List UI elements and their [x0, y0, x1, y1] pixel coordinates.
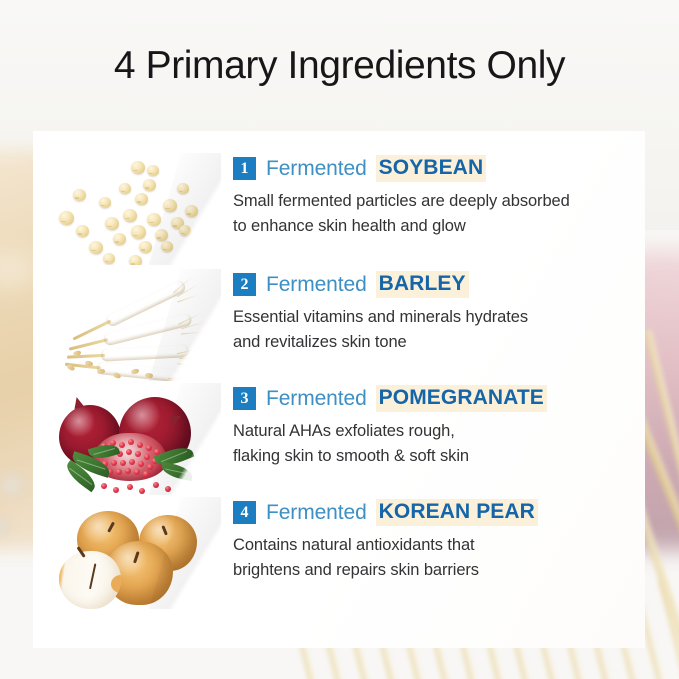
ingredient-name: BARLEY: [376, 271, 469, 298]
description-line: Natural AHAs exfoliates rough,: [233, 419, 645, 444]
barley-headline: 2 Fermented BARLEY: [233, 271, 645, 298]
ingredient-row-soybean: 1 Fermented SOYBEAN Small fermented part…: [33, 153, 645, 267]
step-number-badge: 2: [233, 273, 256, 296]
step-number-badge: 1: [233, 157, 256, 180]
ingredients-infographic: 4 Primary Ingredients Only: [0, 0, 679, 679]
korean-pear-photo: [43, 497, 221, 609]
step-number-badge: 3: [233, 387, 256, 410]
description-line: brightens and repairs skin barriers: [233, 558, 645, 583]
description-line: Contains natural antioxidants that: [233, 533, 645, 558]
pomegranate-text-block: 3 Fermented POMEGRANATE Natural AHAs exf…: [221, 383, 645, 469]
description-line: and revitalizes skin tone: [233, 330, 645, 355]
step-number-badge: 4: [233, 501, 256, 524]
page-title: 4 Primary Ingredients Only: [0, 44, 679, 88]
description-line: Small fermented particles are deeply abs…: [233, 189, 645, 214]
ingredient-name: POMEGRANATE: [376, 385, 547, 412]
fermented-label: Fermented: [266, 157, 367, 181]
barley-text-block: 2 Fermented BARLEY Essential vitamins an…: [221, 269, 645, 355]
soybeans-photo: [43, 153, 221, 265]
pomegranate-description: Natural AHAs exfoliates rough, flaking s…: [233, 419, 645, 469]
fermented-label: Fermented: [266, 387, 367, 411]
ingredient-row-korean-pear: 4 Fermented KOREAN PEAR Contains natural…: [33, 497, 645, 611]
ingredients-card: 1 Fermented SOYBEAN Small fermented part…: [33, 131, 645, 648]
fermented-label: Fermented: [266, 273, 367, 297]
ingredient-row-barley: 2 Fermented BARLEY Essential vitamins an…: [33, 269, 645, 383]
ingredient-name: KOREAN PEAR: [376, 499, 538, 526]
fermented-label: Fermented: [266, 501, 367, 525]
soybean-description: Small fermented particles are deeply abs…: [233, 189, 645, 239]
soybean-text-block: 1 Fermented SOYBEAN Small fermented part…: [221, 153, 645, 239]
description-line: flaking skin to smooth & soft skin: [233, 444, 645, 469]
barley-photo: [43, 269, 221, 381]
barley-description: Essential vitamins and minerals hydrates…: [233, 305, 645, 355]
description-line: to enhance skin health and glow: [233, 214, 645, 239]
soybean-headline: 1 Fermented SOYBEAN: [233, 155, 645, 182]
ingredient-row-pomegranate: 3 Fermented POMEGRANATE Natural AHAs exf…: [33, 383, 645, 497]
korean-pear-headline: 4 Fermented KOREAN PEAR: [233, 499, 645, 526]
description-line: Essential vitamins and minerals hydrates: [233, 305, 645, 330]
pomegranate-headline: 3 Fermented POMEGRANATE: [233, 385, 645, 412]
pomegranate-photo: [43, 383, 221, 495]
korean-pear-text-block: 4 Fermented KOREAN PEAR Contains natural…: [221, 497, 645, 583]
ingredient-name: SOYBEAN: [376, 155, 487, 182]
korean-pear-description: Contains natural antioxidants that brigh…: [233, 533, 645, 583]
